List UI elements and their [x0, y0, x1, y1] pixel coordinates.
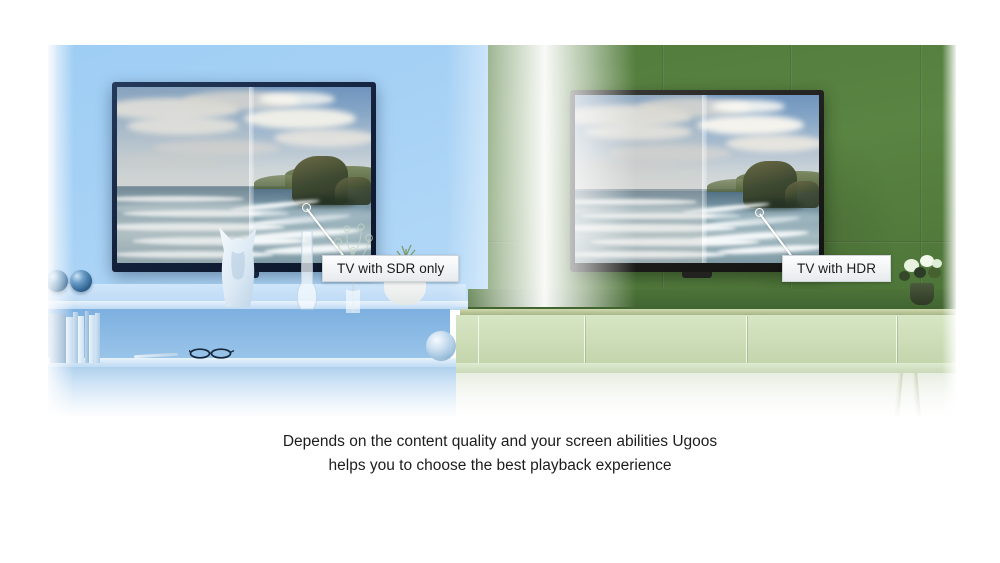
- callout-label-hdr-text: TV with HDR: [797, 261, 876, 276]
- flower-leaf: [928, 267, 941, 278]
- sideboard-door[interactable]: [746, 316, 898, 364]
- left-console-niche: [48, 309, 450, 363]
- decor-tall-vase: [294, 231, 320, 311]
- decor-flower-pot: [910, 283, 934, 305]
- decor-book: [95, 313, 100, 363]
- tv-right-stand: [682, 272, 712, 278]
- caption-line-1: Depends on the content quality and your …: [0, 430, 1000, 454]
- scene-right-fade: [942, 45, 956, 417]
- room-scene: [48, 45, 956, 417]
- flower-bloom: [932, 259, 942, 268]
- caption: Depends on the content quality and your …: [0, 430, 1000, 478]
- wall-blend-gradient: [446, 45, 636, 307]
- sideboard-door[interactable]: [584, 316, 748, 364]
- floor-fade: [48, 363, 956, 417]
- scene-left-fade: [48, 45, 74, 417]
- decor-cat-sculpture: [210, 223, 264, 307]
- decor-book: [78, 316, 84, 363]
- promo-banner: TV with SDR only TV with HDR Depends on …: [0, 0, 1000, 563]
- flower-leaf: [899, 271, 910, 281]
- callout-label-sdr-text: TV with SDR only: [337, 261, 444, 276]
- caption-line-2: helps you to choose the best playback ex…: [0, 454, 1000, 478]
- callout-label-hdr[interactable]: TV with HDR: [782, 255, 891, 282]
- decor-glass-orb: [426, 331, 456, 361]
- flower-leaf: [914, 267, 926, 278]
- callout-label-sdr[interactable]: TV with SDR only: [322, 255, 459, 282]
- sideboard-door[interactable]: [478, 316, 586, 364]
- decor-eyeglasses: [189, 347, 235, 359]
